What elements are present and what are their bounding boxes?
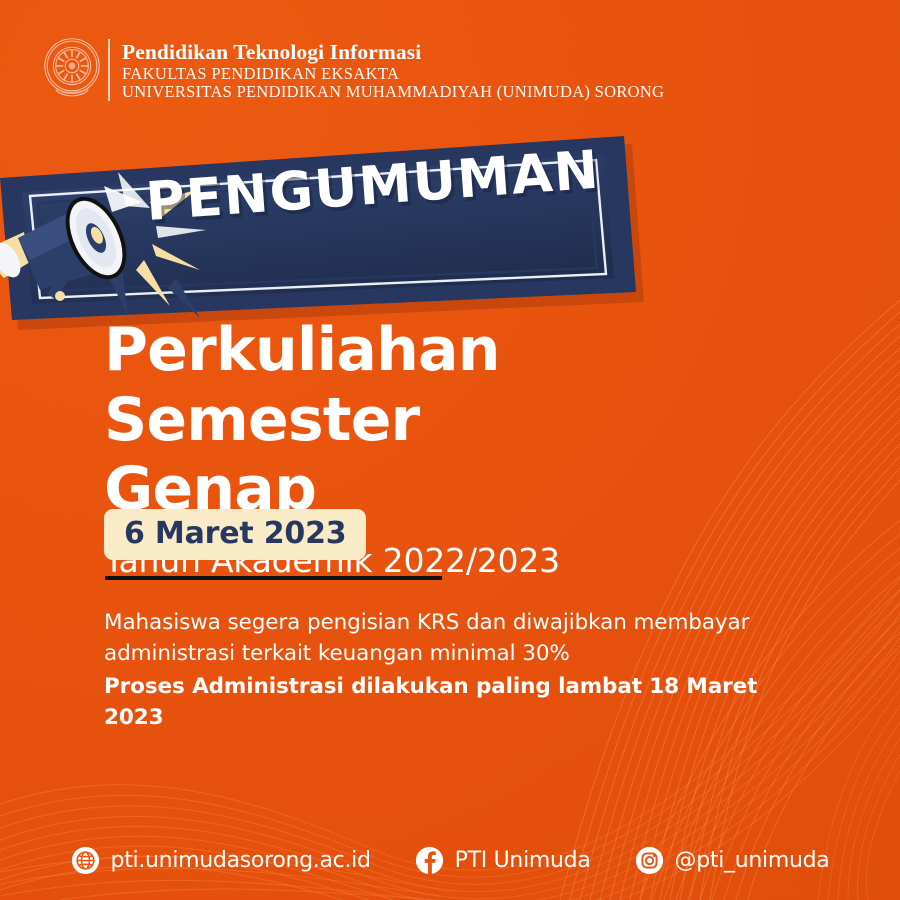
headline-line-1: Perkuliahan Semester [104,316,804,455]
globe-icon [71,846,100,875]
divider-rule [105,576,442,580]
body-copy: Mahasiswa segera pengisian KRS dan diwaj… [104,607,764,734]
date-badge: 6 Maret 2023 [104,509,366,560]
instagram-icon [635,846,664,875]
svg-text:SORONG: SORONG [61,91,83,96]
unimuda-seal-icon: SORONG [38,34,106,106]
facebook-icon [415,846,444,875]
footer-item-website[interactable]: pti.unimudasorong.ac.id [71,846,371,875]
poster-header: SORONG Pendidikan Teknologi Informasi FA… [38,32,664,108]
footer-instagram-label: @pti_unimuda [675,848,830,873]
footer-website-label: pti.unimudasorong.ac.id [111,848,371,873]
footer-item-instagram[interactable]: @pti_unimuda [635,846,830,875]
header-university-name: UNIVERSITAS PENDIDIKAN MUHAMMADIYAH (UNI… [122,83,664,100]
footer-item-facebook[interactable]: PTI Unimuda [415,846,591,875]
header-faculty-name: FAKULTAS PENDIDIKAN EKSAKTA [122,65,664,82]
header-program-name: Pendidikan Teknologi Informasi [122,41,664,63]
body-line-2: administrasi terkait keuangan minimal 30… [104,638,764,669]
body-line-1: Mahasiswa segera pengisian KRS dan diwaj… [104,607,764,638]
body-line-3-bold: Proses Administrasi dilakukan paling lam… [104,671,764,734]
poster-footer: pti.unimudasorong.ac.id PTI Unimuda @pti… [0,846,900,875]
header-divider [108,39,110,101]
announcement-poster: SORONG Pendidikan Teknologi Informasi FA… [0,0,900,900]
footer-facebook-label: PTI Unimuda [455,848,591,873]
announcement-banner: PENGUMUMAN [0,120,680,340]
